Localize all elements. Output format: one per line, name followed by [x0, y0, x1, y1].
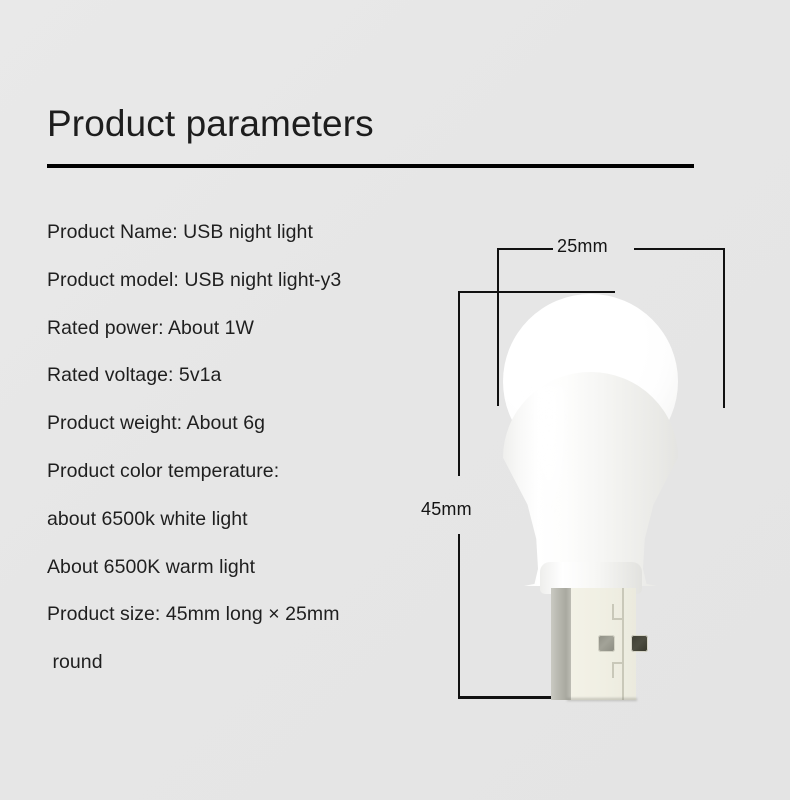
- width-dimension-line-left: [497, 248, 553, 250]
- spec-line-color-temperature: Product color temperature:: [47, 448, 447, 496]
- usb-plug-seam-jog-bottom: [612, 662, 614, 678]
- bulb-highlight: [529, 384, 569, 534]
- spec-line-product-model: Product model: USB night light-y3: [47, 257, 447, 305]
- spec-line-product-name: Product Name: USB night light: [47, 209, 447, 257]
- usb-plug-seam-notch-bottom: [612, 662, 624, 664]
- page-title: Product parameters: [47, 103, 374, 145]
- usb-plug-seam: [622, 588, 624, 700]
- product-parameters-page: Product parameters Product Name: USB nig…: [0, 0, 790, 800]
- usb-plug-seam-notch-top: [612, 618, 624, 620]
- specification-list: Product Name: USB night light Product mo…: [47, 209, 447, 687]
- spec-line-warm-light: About 6500K warm light: [47, 544, 447, 592]
- spec-line-product-weight: Product weight: About 6g: [47, 400, 447, 448]
- spec-line-product-size: Product size: 45mm long × 25mm: [47, 591, 447, 639]
- usb-plug-connector: [551, 588, 636, 700]
- width-dimension-line-right: [634, 248, 725, 250]
- usb-plug-front-face: [571, 588, 636, 700]
- width-dimension-label: 25mm: [557, 236, 608, 257]
- spec-line-rated-power: Rated power: About 1W: [47, 305, 447, 353]
- spec-line-product-size-cont: round: [47, 639, 447, 687]
- usb-plug-contact-shadow: [567, 698, 637, 701]
- usb-plug-cutout-right: [631, 635, 648, 652]
- usb-plug-cutout-left: [598, 635, 615, 652]
- title-underline-rule: [47, 164, 694, 168]
- usb-plug-side-face: [551, 588, 571, 700]
- spec-line-white-light: about 6500k white light: [47, 496, 447, 544]
- spec-line-rated-voltage: Rated voltage: 5v1a: [47, 352, 447, 400]
- product-photo-usb-night-light: [455, 280, 755, 710]
